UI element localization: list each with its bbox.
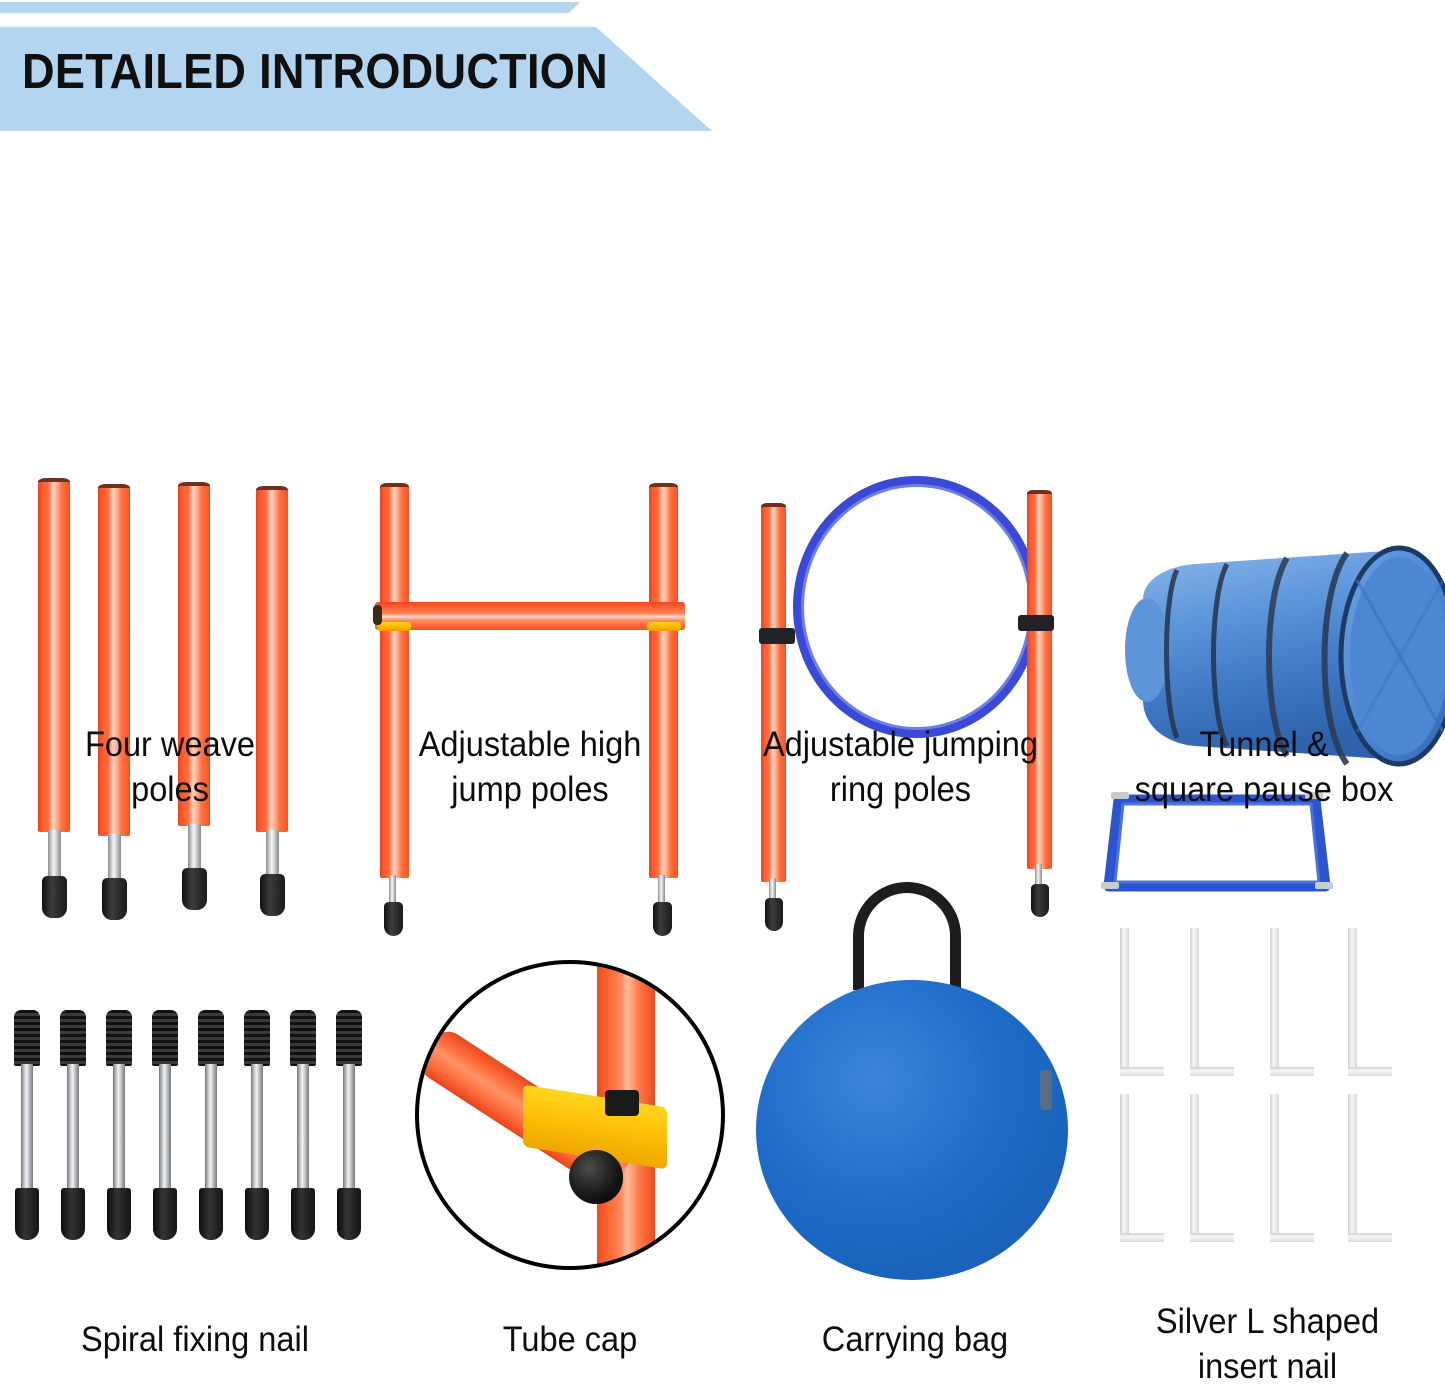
- product-cell-tube-cap: [400, 950, 740, 1280]
- bag-zipper-pull-icon: [1040, 1070, 1052, 1110]
- high-jump-upright-right-upper: [649, 487, 678, 615]
- spiral-fixing-nail-icon: [0, 1000, 400, 1260]
- pole-shaft: [266, 830, 279, 878]
- label-tube-cap: Tube cap: [412, 1318, 728, 1363]
- product-cell-carrying-bag: [740, 870, 1090, 1280]
- pole-shaft: [108, 834, 121, 882]
- connector-clip-left-icon: [377, 622, 411, 631]
- label-spiral-nail: Spiral fixing nail: [23, 1318, 367, 1363]
- nail-foot: [61, 1188, 85, 1240]
- banner-accent-strip: [0, 2, 580, 13]
- jump-ring-highlight: [801, 484, 1032, 730]
- label-high-jump: Adjustable high jump poles: [367, 723, 693, 813]
- nail-foot: [199, 1188, 223, 1240]
- label-l-nail: Silver L shaped insert nail: [1102, 1300, 1432, 1390]
- label-line: Tunnel &: [1098, 723, 1431, 768]
- label-line: Tube cap: [412, 1318, 728, 1363]
- nail-foot: [107, 1188, 131, 1240]
- label-line: Adjustable jumping: [731, 723, 1070, 768]
- nail-shaft: [251, 1064, 263, 1194]
- nail-foot: [15, 1188, 39, 1240]
- pole-rubber-tip: [260, 874, 285, 916]
- carrying-bag-icon: [740, 870, 1090, 1280]
- nail-grip: [60, 1010, 86, 1066]
- nail-grip: [106, 1010, 132, 1066]
- l-nail-shaft: [1348, 928, 1357, 1076]
- label-line: Four weave: [21, 723, 319, 768]
- pole-rubber-tip: [653, 902, 672, 936]
- high-jump-upright-left-upper: [380, 487, 409, 615]
- pole-rubber-tip: [102, 878, 127, 920]
- nail-grip: [290, 1010, 316, 1066]
- l-nail-foot: [1270, 1067, 1314, 1076]
- label-line: ring poles: [731, 768, 1070, 813]
- nail-foot: [245, 1188, 269, 1240]
- label-line: Carrying bag: [752, 1318, 1078, 1363]
- nail-shaft: [297, 1064, 309, 1194]
- nail-grip: [244, 1010, 270, 1066]
- nail-shaft: [113, 1064, 125, 1194]
- label-line: square pause box: [1098, 768, 1431, 813]
- header-banner: DETAILED INTRODUCTION: [0, 0, 740, 150]
- pole-shaft: [188, 824, 201, 872]
- product-cell-jump-ring: [715, 230, 1085, 710]
- detail-clip-slot: [605, 1090, 639, 1116]
- l-nail-foot: [1190, 1067, 1234, 1076]
- label-line: insert nail: [1102, 1345, 1432, 1390]
- product-cell-l-nail: [1090, 900, 1445, 1290]
- nail-shaft: [67, 1064, 79, 1194]
- tube-cap-detail-icon: [415, 960, 725, 1270]
- l-nail-shaft: [1120, 1094, 1129, 1242]
- l-nail-foot: [1348, 1233, 1392, 1242]
- label-line: Spiral fixing nail: [23, 1318, 367, 1363]
- nail-shaft: [21, 1064, 33, 1194]
- label-tunnel-pausebox: Tunnel & square pause box: [1098, 723, 1431, 813]
- connector-clip-right-icon: [647, 622, 681, 631]
- page-title: DETAILED INTRODUCTION: [22, 44, 608, 100]
- pole-rubber-tip: [182, 868, 207, 910]
- l-nail-shaft: [1120, 928, 1129, 1076]
- l-nail-foot: [1270, 1233, 1314, 1242]
- four-weave-poles-icon: [0, 230, 345, 710]
- adjustable-jumping-ring-poles-icon: [715, 230, 1085, 710]
- bag-body: [756, 980, 1068, 1280]
- ring-pole-right: [1027, 494, 1052, 869]
- high-jump-crossbar: [375, 602, 685, 630]
- bag-handle: [853, 882, 961, 990]
- nail-grip: [14, 1010, 40, 1066]
- l-nail-shaft: [1270, 928, 1279, 1076]
- pole-rubber-tip: [384, 902, 403, 936]
- nail-foot: [153, 1188, 177, 1240]
- tunnel-and-square-pause-box-icon: [1085, 230, 1445, 710]
- nail-grip: [152, 1010, 178, 1066]
- nail-shaft: [343, 1064, 355, 1194]
- label-line: poles: [21, 768, 319, 813]
- l-nail-foot: [1120, 1233, 1164, 1242]
- nail-grip: [198, 1010, 224, 1066]
- l-nail-shaft: [1190, 1094, 1199, 1242]
- label-carrying-bag: Carrying bag: [752, 1318, 1078, 1363]
- l-nail-foot: [1348, 1067, 1392, 1076]
- ring-strap-clip-right-icon: [1018, 615, 1054, 631]
- nail-shaft: [205, 1064, 217, 1194]
- l-nail-shaft: [1348, 1094, 1357, 1242]
- product-cell-spiral-nail: [0, 1000, 400, 1260]
- silver-l-shaped-insert-nail-icon: [1090, 900, 1445, 1290]
- adjustable-high-jump-poles-icon: [345, 230, 715, 710]
- ring-pole-left: [761, 507, 786, 882]
- nail-shaft: [159, 1064, 171, 1194]
- product-cell-high-jump: [345, 230, 715, 710]
- l-nail-foot: [1120, 1067, 1164, 1076]
- label-line: Adjustable high: [367, 723, 693, 768]
- pole-shaft: [48, 830, 61, 882]
- label-weave-poles: Four weave poles: [21, 723, 319, 813]
- label-jump-ring: Adjustable jumping ring poles: [731, 723, 1070, 813]
- l-nail-shaft: [1270, 1094, 1279, 1242]
- l-nail-foot: [1190, 1233, 1234, 1242]
- pole-rubber-tip: [42, 876, 67, 918]
- nail-foot: [291, 1188, 315, 1240]
- label-line: jump poles: [367, 768, 693, 813]
- nail-grip: [336, 1010, 362, 1066]
- product-cell-tunnel-pausebox: [1085, 230, 1445, 710]
- ring-strap-clip-left-icon: [759, 628, 795, 644]
- l-nail-shaft: [1190, 928, 1199, 1076]
- label-line: Silver L shaped: [1102, 1300, 1432, 1345]
- nail-foot: [337, 1188, 361, 1240]
- detail-tube-cap-front: [569, 1150, 623, 1204]
- product-cell-weave-poles: [0, 230, 345, 710]
- crossbar-end-cap-left-icon: [373, 605, 382, 625]
